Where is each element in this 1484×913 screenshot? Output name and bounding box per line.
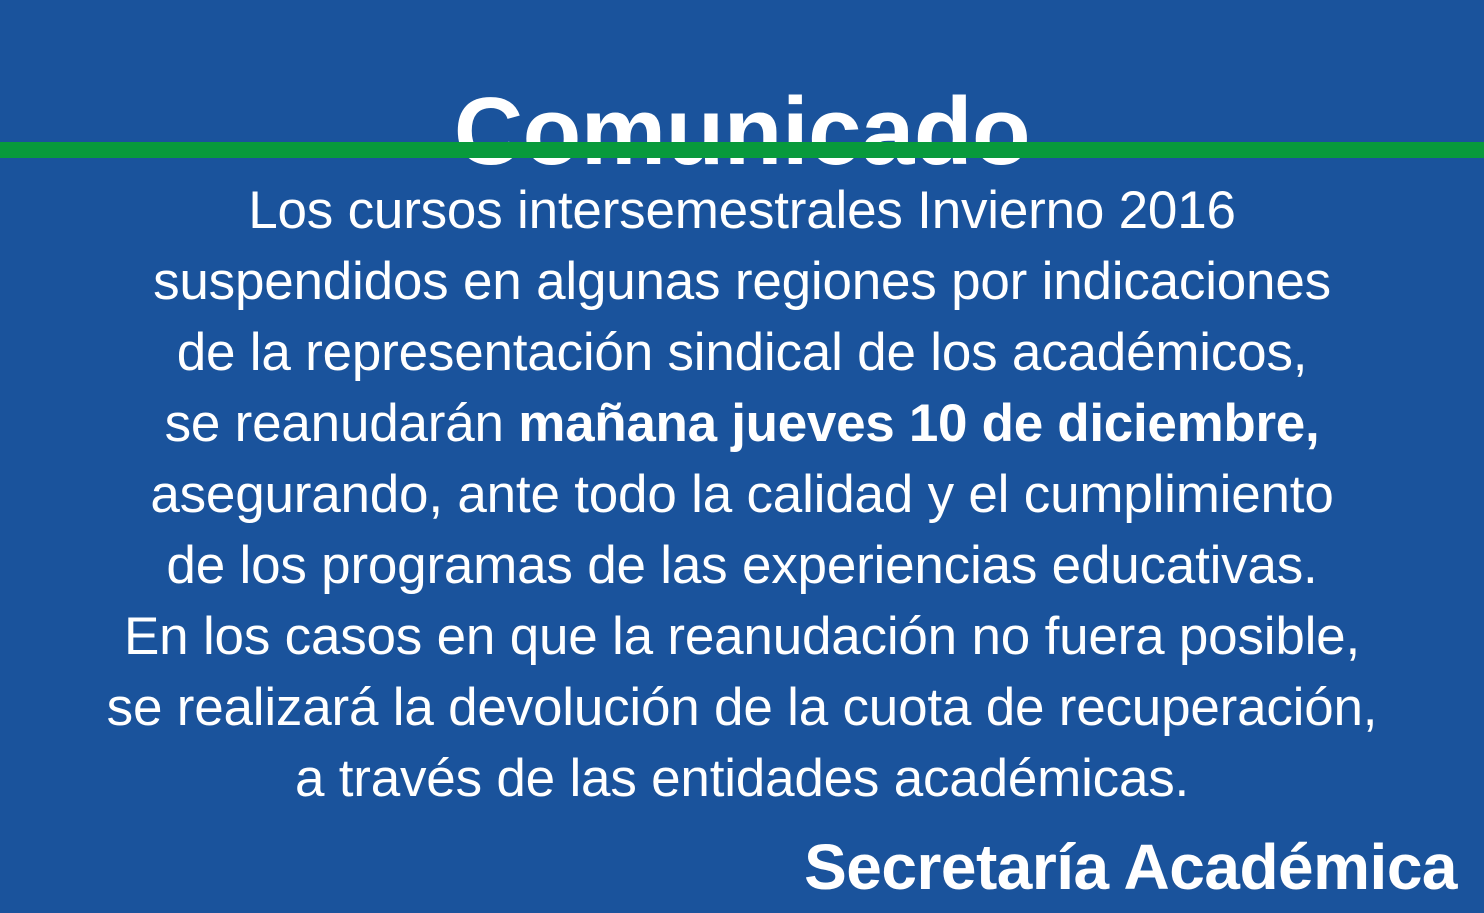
announcement-body: Los cursos intersemestrales Invierno 201… (0, 175, 1484, 814)
comunicado-poster: Comunicado Los cursos intersemestrales I… (0, 0, 1484, 913)
body-line-7: En los casos en que la reanudación no fu… (0, 601, 1484, 672)
body-line-5: asegurando, ante todo la calidad y el cu… (0, 459, 1484, 530)
body-line-4-emphasis: mañana jueves 10 de diciembre, (518, 394, 1319, 453)
body-line-4-prefix: se reanudarán (165, 394, 519, 453)
body-line-3: de la representación sindical de los aca… (0, 317, 1484, 388)
body-line-6: de los programas de las experiencias edu… (0, 530, 1484, 601)
signature-secretaria-academica: Secretaría Académica (804, 831, 1457, 905)
body-line-9: a través de las entidades académicas. (0, 743, 1484, 814)
header-band: Comunicado (0, 0, 1484, 142)
green-divider-rule (0, 142, 1484, 158)
body-line-1: Los cursos intersemestrales Invierno 201… (0, 175, 1484, 246)
body-line-8: se realizará la devolución de la cuota d… (0, 672, 1484, 743)
body-line-2: suspendidos en algunas regiones por indi… (0, 246, 1484, 317)
body-line-4: se reanudarán mañana jueves 10 de diciem… (0, 388, 1484, 459)
